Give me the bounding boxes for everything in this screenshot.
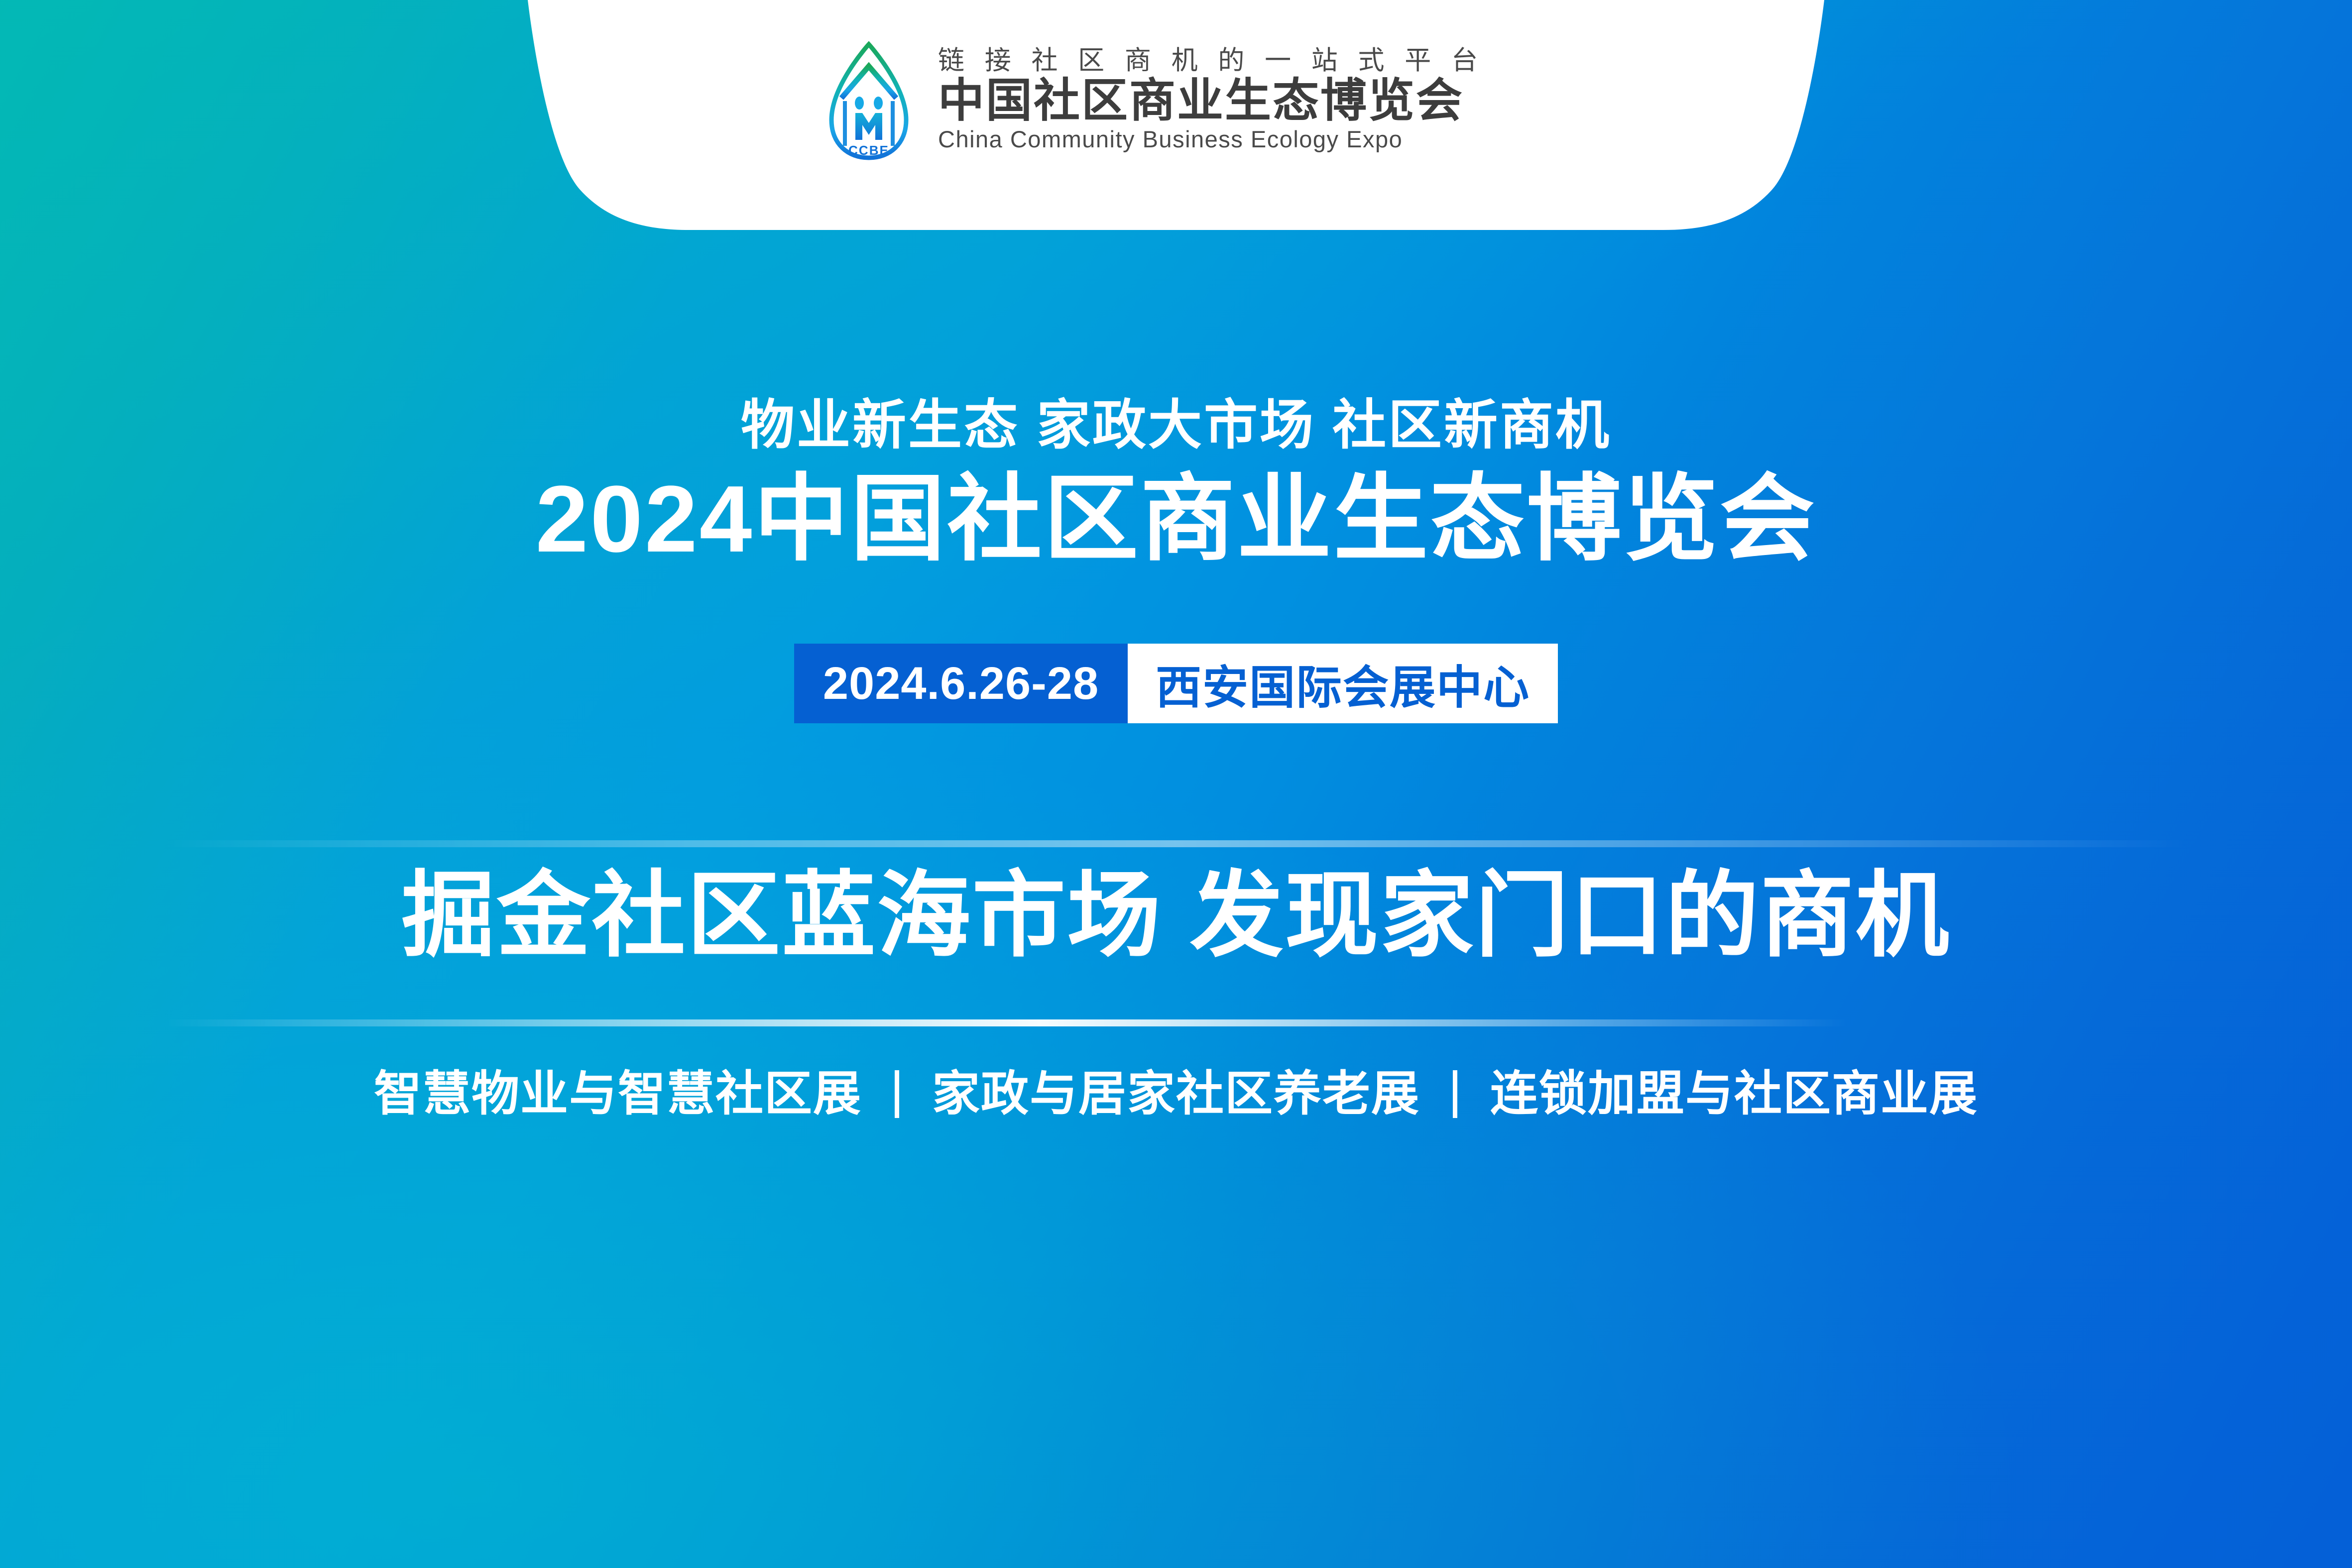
page-title: 2024中国社区商业生态博览会 [0,472,2352,566]
exhibition-section-1: 智慧物业与智慧社区展 [374,1070,862,1118]
expo-poster: CCBE 链 接 社 区 商 机 的 一 站 式 平 台 中国社区商业生态博览会… [0,0,2352,1568]
logo-title-cn: 中国社区商业生态博览会 [938,76,1484,125]
divider-below-slogan [164,1019,1847,1026]
headline-stack: 物业新生态 家政大市场 社区新商机 2024中国社区商业生态博览会 [0,398,2352,566]
slogan-text: 掘金社区蓝海市场 发现家门口的商机 [0,869,2352,962]
event-venue-badge: 西安国际会展中心 [1128,644,1558,723]
logo-title-en: China Community Business Ecology Expo [938,126,1484,152]
background-tint-teal [0,0,2352,1568]
divider-above-slogan [164,840,2186,847]
section-separator-icon [1453,1070,1457,1118]
exhibition-section-2: 家政与居家社区养老展 [932,1070,1420,1118]
ccbe-house-logo-icon: CCBE [817,37,921,162]
svg-text:CCBE: CCBE [848,143,889,158]
logo-text-block: 链 接 社 区 商 机 的 一 站 式 平 台 中国社区商业生态博览会 Chin… [938,47,1484,152]
logo-lockup: CCBE 链 接 社 区 商 机 的 一 站 式 平 台 中国社区商业生态博览会… [817,37,1484,162]
exhibition-section-3: 连锁加盟与社区商业展 [1490,1070,1978,1118]
event-date-badge: 2024.6.26-28 [794,644,1128,723]
eyebrow-text: 物业新生态 家政大市场 社区新商机 [0,398,2352,452]
background-tint-glow [0,0,2352,1568]
date-venue-badge: 2024.6.26-28 西安国际会展中心 [794,644,1558,723]
date-venue-badge-row: 2024.6.26-28 西安国际会展中心 [0,644,2352,723]
exhibition-sections-row: 智慧物业与智慧社区展 家政与居家社区养老展 连锁加盟与社区商业展 [0,1070,2352,1118]
slogan-row: 掘金社区蓝海市场 发现家门口的商机 [0,869,2352,962]
background-tint-blue [0,0,2352,1568]
logo-tagline: 链 接 社 区 商 机 的 一 站 式 平 台 [938,47,1484,75]
section-separator-icon [895,1070,899,1118]
